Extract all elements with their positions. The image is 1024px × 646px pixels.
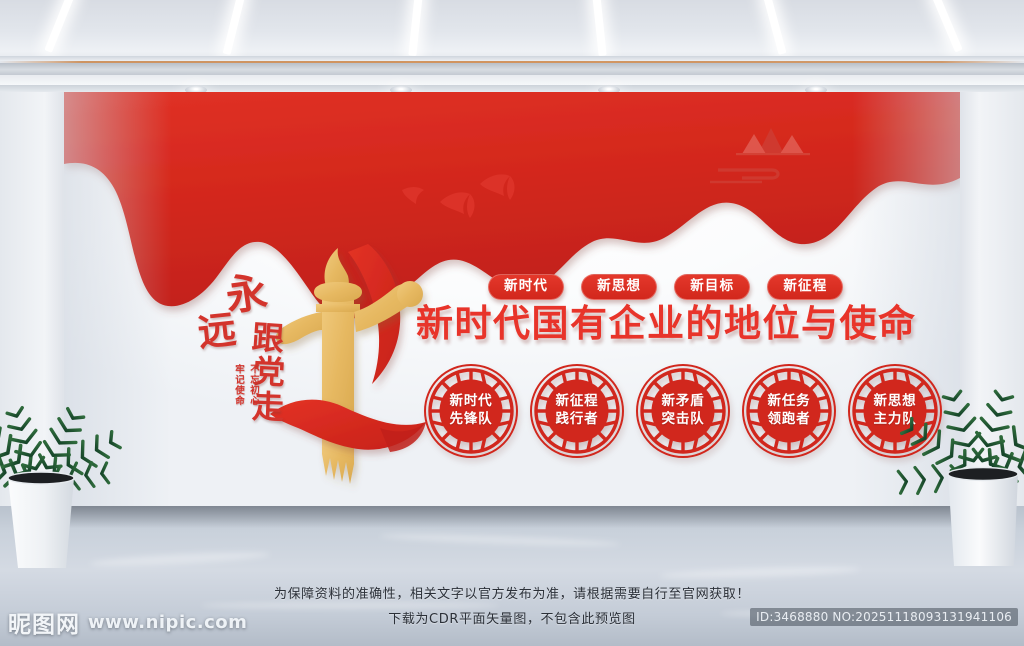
badge-2[interactable]: 新矛盾 突击队 <box>636 364 730 458</box>
badge-0-line1: 新时代 <box>450 393 493 411</box>
badge-row: 新时代 先锋队 <box>424 364 942 458</box>
calligraphy-slogan: 永 远 跟 党 走 不忘初心 牢记使命 <box>196 268 312 436</box>
tag-pill-row: 新时代 新思想 新目标 新征程 <box>488 274 843 300</box>
badge-2-line1: 新矛盾 <box>662 393 705 411</box>
calligraphy-subtext-left: 牢记使命 <box>231 364 245 406</box>
calligraphy-char-gen: 跟 <box>251 321 285 355</box>
watermark-brand-cn: 昵图网 <box>8 605 80 639</box>
badge-1-text: 新征程 践行者 <box>530 364 624 458</box>
asset-id-tag: ID:3468880 NO:20251118093131941106 <box>750 608 1018 626</box>
planter-left <box>8 478 74 568</box>
badge-0[interactable]: 新时代 先锋队 <box>424 364 518 458</box>
calligraphy-char-yuan: 远 <box>196 310 238 352</box>
ceiling <box>0 0 1024 92</box>
watermark: 昵图网 www.nipic.com <box>8 605 247 639</box>
ceiling-light-strip <box>408 0 423 56</box>
badge-3-line1: 新任务 <box>768 393 811 411</box>
ceiling-light-strip <box>930 0 962 52</box>
ceiling-light-strip <box>762 0 786 55</box>
badge-3-line2: 领跑者 <box>768 411 811 429</box>
badge-3-text: 新任务 领跑者 <box>742 364 836 458</box>
badge-3[interactable]: 新任务 领跑者 <box>742 364 836 458</box>
potted-plant-right <box>892 358 1024 570</box>
ceiling-light-strip <box>44 0 75 53</box>
ceiling-light-strip <box>223 0 246 55</box>
calligraphy-subtext-right: 不忘初心 <box>246 364 260 406</box>
badge-2-text: 新矛盾 突击队 <box>636 364 730 458</box>
disclaimer-line-1: 为保障资料的准确性，相关文字以官方发布为准，请根据需要自行至官网获取！ <box>0 583 1024 602</box>
planter-right <box>948 474 1018 566</box>
main-feature-wall: 永 远 跟 党 走 不忘初心 牢记使命 新时代 新思想 新目标 新征程 新时代国… <box>64 92 960 564</box>
calligraphy-subtext: 不忘初心 牢记使命 <box>220 364 260 406</box>
screenshot-stage: 永 远 跟 党 走 不忘初心 牢记使命 新时代 新思想 新目标 新征程 新时代国… <box>0 0 1024 646</box>
ceiling-light-strip <box>592 0 607 56</box>
ceiling-beam <box>0 75 1024 85</box>
badge-1-line2: 践行者 <box>556 411 599 429</box>
tag-pill-1[interactable]: 新思想 <box>581 274 657 300</box>
tag-pill-3[interactable]: 新征程 <box>767 274 843 300</box>
tag-pill-2[interactable]: 新目标 <box>674 274 750 300</box>
badge-0-line2: 先锋队 <box>450 411 493 429</box>
tag-pill-0[interactable]: 新时代 <box>488 274 564 300</box>
potted-plant-left <box>0 372 130 572</box>
watermark-url: www.nipic.com <box>88 612 247 633</box>
page-title: 新时代国有企业的地位与使命 <box>416 305 917 342</box>
badge-1-line1: 新征程 <box>556 393 599 411</box>
badge-1[interactable]: 新征程 践行者 <box>530 364 624 458</box>
badge-0-text: 新时代 先锋队 <box>424 364 518 458</box>
floor-wall-shadow <box>64 506 960 528</box>
ceiling-beam <box>0 63 1024 75</box>
badge-2-line2: 突击队 <box>662 411 705 429</box>
